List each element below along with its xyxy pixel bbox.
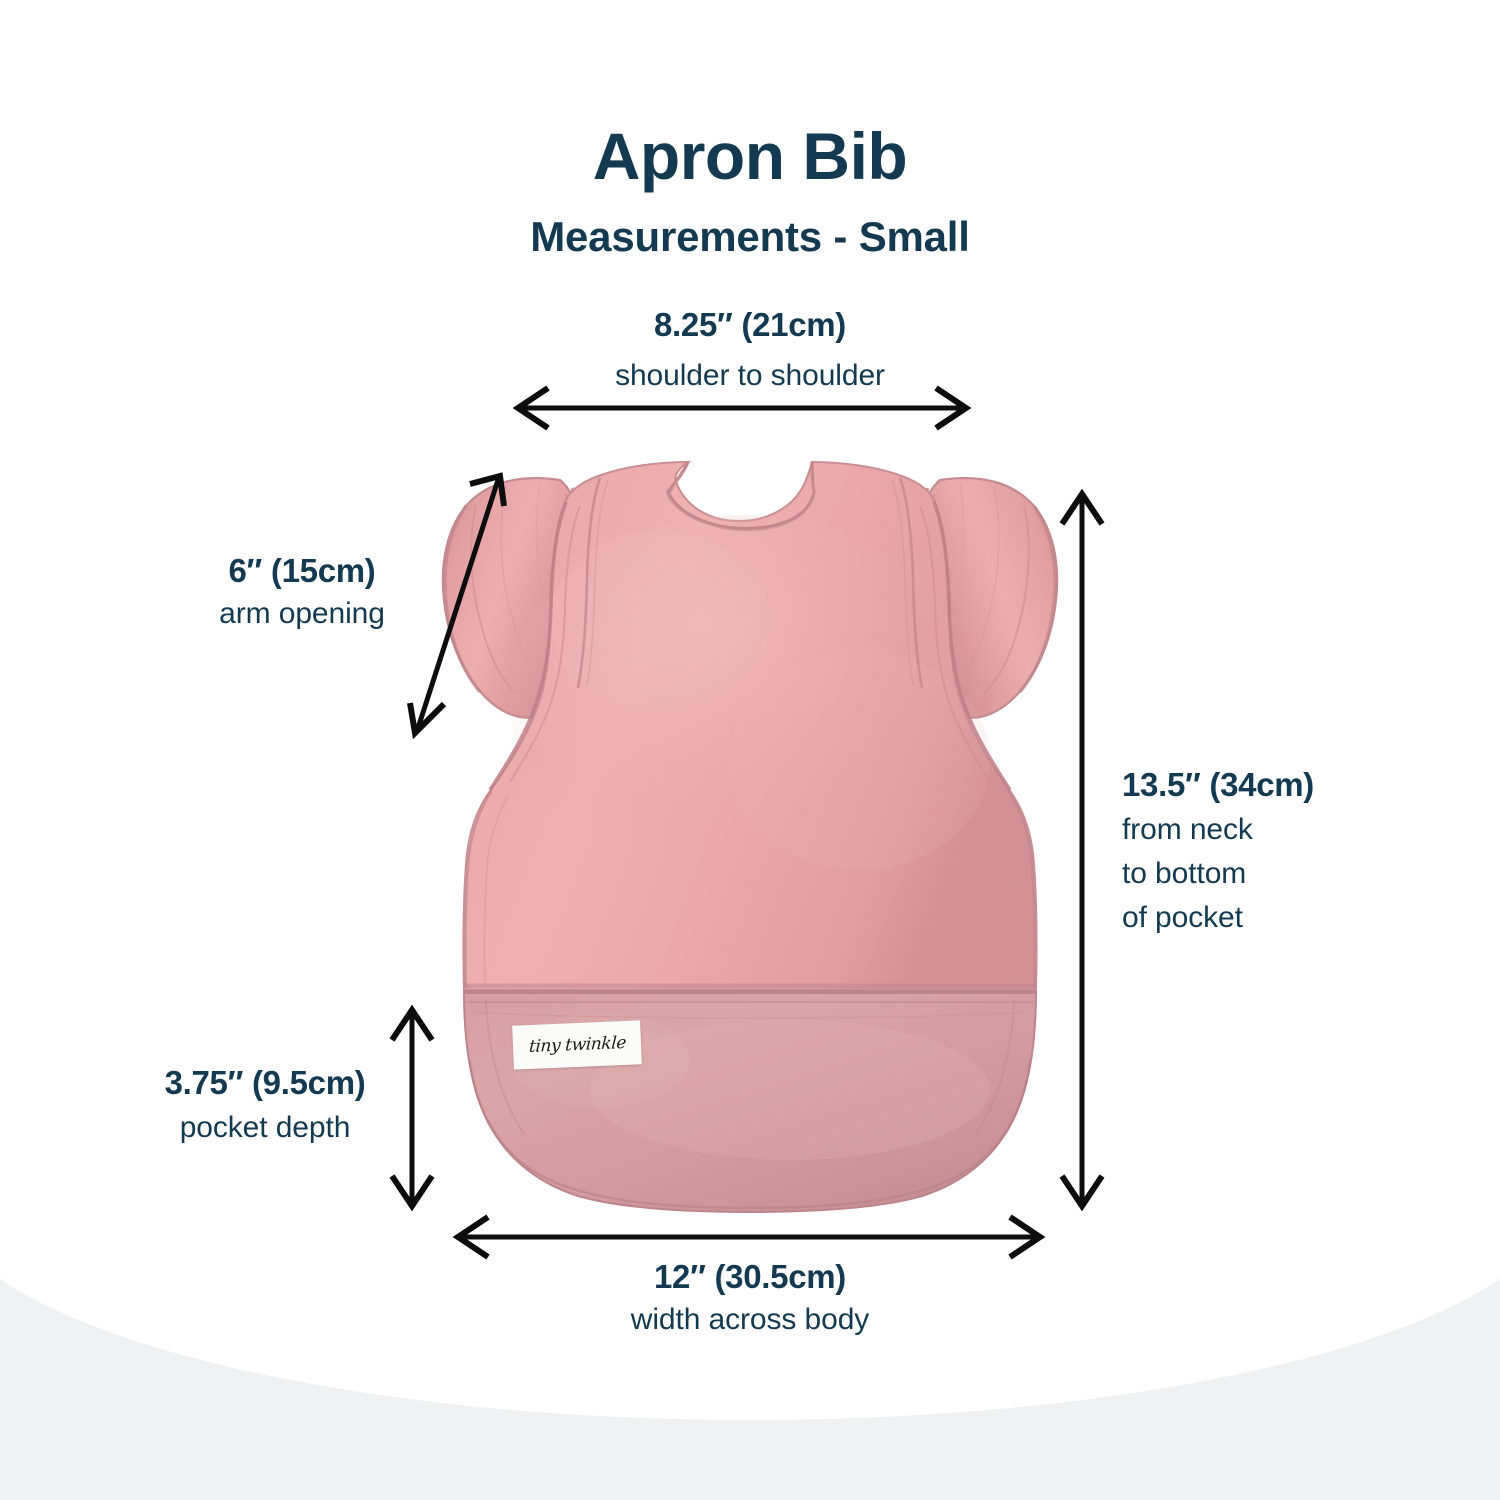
- neck-to-pocket-description-line-2: to bottom: [1122, 856, 1246, 891]
- measurement-diagram-page: tiny twinkle: [0, 0, 1500, 1500]
- width-across-body-description: width across body: [631, 1302, 869, 1337]
- width-across-body-value: 12″ (30.5cm): [654, 1258, 846, 1297]
- page-subtitle: Measurements - Small: [530, 212, 970, 262]
- neck-to-pocket-description-line-1: from neck: [1122, 812, 1253, 847]
- shoulder-to-shoulder-value: 8.25″ (21cm): [654, 306, 846, 345]
- pocket-depth-value: 3.75″ (9.5cm): [165, 1064, 366, 1103]
- pocket-depth-description: pocket depth: [180, 1110, 351, 1145]
- arm-opening-description: arm opening: [219, 596, 385, 631]
- shoulder-to-shoulder-description: shoulder to shoulder: [615, 358, 885, 393]
- arm-opening-value: 6″ (15cm): [228, 552, 375, 591]
- brand-label-tag: tiny twinkle: [512, 1020, 642, 1069]
- neck-to-pocket-description-line-3: of pocket: [1122, 900, 1243, 935]
- page-title: Apron Bib: [593, 118, 907, 196]
- neck-to-pocket-value: 13.5″ (34cm): [1122, 766, 1314, 805]
- brand-label-text: tiny twinkle: [528, 1033, 626, 1057]
